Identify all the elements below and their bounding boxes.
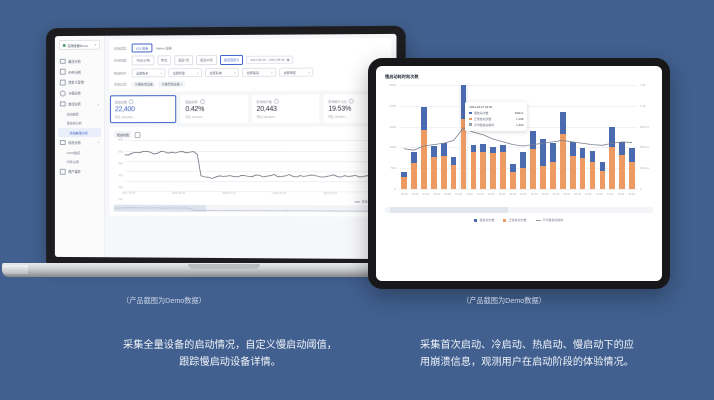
chip-last-30-days[interactable]: 最近30天 (196, 55, 217, 64)
y-tick-label-left: 1500 (389, 125, 396, 129)
laptop-foot (2, 265, 28, 274)
filter-label: 筛选条件： (114, 71, 129, 76)
stacked-bar (580, 85, 586, 189)
line-path (125, 140, 386, 191)
x-tick-label: 02:00 (542, 193, 549, 196)
metric-cards: 慢启动数 22,400 环比 194.83% ↑ 慢启动率 (110, 94, 391, 123)
bar-segment-slow (580, 148, 586, 158)
y-axis-left: 25002000150010005000 (385, 85, 397, 189)
left-description: 采集全量设备的启动情况，自定义慢启动阈值， 跟踪慢启动设备详情。 (95, 338, 365, 372)
sidebar-item-retention[interactable]: 用户留存 (55, 166, 104, 177)
tooltip-value: 1,420 (516, 123, 523, 127)
stacked-bar (540, 85, 546, 189)
y-tick-label-right: 600ms (640, 145, 649, 149)
filter-panel: 应用类型： iOS 应用 Native 应用 时间范围： 今日(小时) 昨日 最… (110, 38, 391, 91)
y-tick-label-left: 2000 (389, 104, 396, 108)
chip-custom-range[interactable]: 最近自定义 (220, 55, 243, 64)
bar-column[interactable] (588, 85, 598, 189)
bar-segment-slow (540, 139, 546, 166)
sidebar-item-label: 用户留存 (68, 169, 81, 174)
bar-segment-normal (471, 152, 477, 189)
laptop-screen: 应用性能Demo ▾ 崩溃分析 ANR分析 (55, 34, 397, 259)
chip-last-7-days[interactable]: 最近7天 (174, 55, 193, 64)
x-tick-label: 2021-06-29 (122, 192, 135, 195)
grid-icon (60, 140, 65, 146)
bar-segment-slow (441, 143, 447, 155)
legend-label: 平均慢启动耗时 (543, 218, 564, 222)
legend-swatch-icon (503, 219, 506, 222)
left-description-line1: 采集全量设备的启动情况，自定义慢启动阈值， (95, 338, 365, 355)
stacked-bar (431, 85, 437, 189)
bar-segment-normal (560, 134, 566, 189)
bar-column[interactable] (429, 85, 439, 189)
status-dot-icon (63, 43, 66, 46)
laptop-caption: （产品截图为Demo数据） (122, 296, 206, 306)
tooltip-value: 640ms (515, 111, 524, 115)
bar-segment-slow (570, 142, 576, 155)
filter-row-app-type: 应用类型： iOS 应用 Native 应用 (114, 42, 387, 53)
legend-item-normal-startup[interactable]: 正常启动次数 (503, 218, 526, 222)
legend-swatch-icon (474, 219, 477, 222)
tablet-bezel: 慢启动耗时和次数 25002000150010005000 1.5k1.2k90… (368, 58, 670, 289)
select-os[interactable]: 全部系统 ▾ (206, 68, 240, 78)
bar-segment-normal (580, 158, 586, 189)
stacked-bar (411, 85, 417, 189)
sidebar-subitem-slow-startup[interactable]: 慢启动分析 (55, 118, 104, 127)
date-range-value: 2021-06-29 ~ 2021-08-06 (250, 58, 284, 62)
project-name: 应用性能Demo (68, 42, 88, 47)
sidebar-subitem-startup-trend[interactable]: 启动趋势 (55, 109, 104, 118)
select-value: 全部版本 (136, 71, 148, 76)
startup-duration-panel: 慢启动耗时和次数 25002000150010005000 1.5k1.2k90… (376, 66, 662, 281)
x-tick-label: 12:00 (466, 193, 473, 196)
bar-series (399, 85, 637, 189)
bar-segment-normal (411, 163, 417, 189)
legend-item-slow-startup[interactable]: 慢启动次数 (474, 218, 494, 222)
x-tick-label: 20:00 (509, 193, 516, 196)
laptop-line-chart: 600500400300200100 2021-06-292021-07-062… (114, 140, 387, 201)
x-tick-label: 2021-07-13 (222, 192, 235, 195)
x-tick-label: 10:00 (585, 193, 592, 196)
y-axis-right: 1.5k1.2k900ms600ms300ms0 (639, 85, 653, 189)
x-tick-label: 22:00 (520, 193, 527, 196)
grid-icon (60, 169, 65, 175)
date-range-picker[interactable]: 2021-06-29 ~ 2021-08-06 ▦ (246, 55, 293, 64)
bar-column[interactable] (607, 85, 617, 189)
scene: 应用性能Demo ▾ 崩溃分析 ANR分析 (0, 0, 714, 400)
filter-label: 应用类型： (114, 45, 129, 50)
metric-value: 22,400 (115, 106, 172, 113)
help-icon[interactable] (129, 99, 134, 104)
chip-yesterday[interactable]: 昨日 (157, 56, 171, 65)
bar-segment-slow (600, 162, 606, 170)
apm-dashboard: 应用性能Demo ▾ 崩溃分析 ANR分析 (55, 34, 397, 259)
y-tick-label-right: 0 (640, 187, 642, 191)
select-device-model[interactable]: 全部机型 ▾ (169, 68, 203, 77)
bar-segment-normal (530, 149, 536, 189)
bar-segment-slow (520, 152, 526, 168)
bar-column[interactable] (617, 85, 627, 189)
legend-swatch-icon (469, 118, 472, 121)
settings-grid-icon[interactable] (135, 132, 141, 138)
x-tick-label: 12:00 (596, 193, 603, 196)
slider-fill (390, 207, 508, 213)
select-version[interactable]: 全部版本 ▾ (132, 68, 166, 77)
help-icon[interactable] (274, 99, 279, 104)
stacked-bar (451, 85, 457, 189)
x-tick-label: 2021-07-06 (172, 192, 185, 195)
sidebar-item-crash[interactable]: 崩溃分析 (55, 56, 104, 67)
x-tick-label: 00:00 (531, 193, 538, 196)
y-tick-label-left: 1000 (389, 145, 396, 149)
stacked-bar (421, 85, 427, 189)
stacked-bar (480, 85, 486, 189)
chart-range-slider[interactable] (385, 207, 653, 213)
bar-segment-normal (421, 130, 427, 189)
tag-abnormal-devices-only[interactable]: 只看异常设备 × (159, 81, 185, 87)
bar-column[interactable] (498, 85, 508, 189)
metric-value: 0.42% (185, 106, 242, 113)
legend-line-marker (355, 202, 360, 203)
legend-label: 正常启动次数 (508, 218, 526, 222)
y-tick-label: 300 (118, 175, 122, 178)
sidebar-item-label: 卡顿分析 (68, 91, 81, 96)
bar-column[interactable] (528, 85, 538, 189)
metric-card-affected-users[interactable]: 影响用户数 20,443 环比 146.84% ↑ (252, 94, 320, 123)
legend-label: 慢启动次数 (479, 218, 494, 222)
gridline (399, 189, 637, 190)
x-tick-label: 14:00 (607, 193, 614, 196)
tooltip-label: 正常启动次数 (474, 117, 491, 121)
clock-icon (60, 90, 65, 96)
x-tick-label: 18:00 (628, 193, 635, 196)
metric-title: 慢启动数 (115, 99, 127, 104)
metric-delta: 环比 194.83% ↑ (115, 115, 172, 119)
stacked-bar (629, 85, 635, 189)
filter-label: 高级过滤： (114, 82, 129, 87)
bar-column[interactable] (578, 85, 588, 189)
chevron-down-icon: ▾ (95, 43, 96, 47)
stacked-bar (471, 85, 477, 189)
metric-title-row: 慢启动数 (115, 99, 172, 104)
bar-column[interactable] (399, 85, 409, 189)
chip-ios-app[interactable]: iOS 应用 (132, 43, 152, 52)
tablet-caption: （产品截图为Demo数据） (462, 296, 546, 306)
stacked-bar (510, 85, 516, 189)
x-tick-label: 2021-07-20 (273, 192, 286, 195)
x-tick-label: 02:00 (412, 193, 419, 196)
grid-icon (60, 58, 65, 64)
chevron-down-icon: ▾ (271, 71, 272, 75)
line-path (114, 207, 387, 213)
calendar-icon: ▦ (287, 58, 290, 62)
sidebar-item-anr[interactable]: ANR分析 (55, 66, 104, 77)
y-tick-label-left: 0 (394, 187, 396, 191)
bar-segment-slow (510, 164, 516, 171)
tooltip-label: 平均慢启动耗时 (474, 123, 494, 127)
bar-segment-slow (451, 157, 457, 165)
tooltip-row: 慢启动次数 640ms (469, 111, 523, 115)
bar-segment-normal (550, 162, 556, 189)
select-region[interactable]: 全部地区 ▾ (280, 68, 314, 78)
tooltip-label: 慢启动次数 (474, 111, 488, 115)
metric-value: 20,443 (257, 106, 315, 113)
stacked-bar (441, 85, 447, 189)
bar-column[interactable] (419, 85, 429, 189)
bar-column[interactable] (597, 85, 607, 189)
metric-title: 慢启动率 (185, 99, 197, 104)
help-icon[interactable] (200, 99, 205, 104)
tooltip-row: 平均慢启动耗时 1,420 (469, 123, 523, 127)
bar-column[interactable] (488, 85, 498, 189)
bar-segment-normal (570, 156, 576, 189)
bar-segment-normal (619, 155, 625, 189)
grid-icon (60, 80, 65, 86)
y-tick-label: 100 (118, 199, 122, 202)
select-value: 全部地区 (284, 70, 296, 75)
chart-range-slider[interactable] (114, 205, 387, 213)
x-tick-label: 08:00 (574, 193, 581, 196)
x-tick-label: 16:00 (488, 193, 495, 196)
sidebar-subitem-startup-crash[interactable]: 启动崩溃分析 (58, 128, 101, 137)
laptop-notch (188, 264, 260, 269)
metric-card-slow-startup-count[interactable]: 慢启动数 22,400 环比 194.83% ↑ (110, 95, 177, 123)
sidebar-item-label: 自定义异常 (68, 80, 84, 85)
sidebar-item-label: 启动分析 (68, 101, 81, 106)
chevron-down-icon: ▾ (160, 71, 161, 75)
stacked-bar (600, 85, 606, 189)
select-value: 全部机型 (173, 70, 185, 75)
bar-column[interactable] (548, 85, 558, 189)
bar-segment-normal (510, 172, 516, 189)
chart-legend: 慢启动次数 正常启动次数 平均慢启动耗时 (385, 218, 653, 222)
bar-column[interactable] (468, 85, 478, 189)
sidebar-item-startup[interactable]: 启动分析 ▴ (55, 98, 104, 109)
right-description: 采集首次启动、冷启动、热启动、慢启动下的应 用崩溃信息，观测用户在启动阶段的体验… (392, 338, 662, 372)
left-description-line2: 跟踪慢启动设备详情。 (95, 355, 365, 372)
bar-segment-slow (471, 145, 477, 152)
sidebar-item-label: ANR分析 (68, 69, 81, 74)
bar-segment-normal (600, 171, 606, 189)
laptop-device: 应用性能Demo ▾ 崩溃分析 ANR分析 (44, 27, 404, 277)
bar-segment-normal (540, 166, 546, 189)
legend-item-avg-duration[interactable]: 平均慢启动耗时 (536, 218, 564, 222)
bar-segment-slow (619, 142, 625, 154)
metric-title-row: 影响用户数 (257, 99, 315, 104)
stacked-bar (490, 85, 496, 189)
x-tick-label: 06:00 (563, 193, 570, 196)
bar-column[interactable] (568, 85, 578, 189)
legend-swatch-icon (469, 112, 472, 115)
slider-preview (114, 207, 387, 213)
bar-column[interactable] (459, 85, 469, 189)
bar-segment-normal (500, 152, 506, 189)
chevron-up-icon: ▴ (98, 102, 99, 106)
bar-segment-slow (590, 151, 596, 163)
y-tick-label: 600 (118, 139, 122, 142)
stacked-bar (550, 85, 556, 189)
stacked-bar (530, 85, 536, 189)
bar-segment-slow (609, 127, 615, 147)
bar-segment-normal (490, 153, 496, 189)
chart-tooltip: 2021-03-07 04:00 慢启动次数 640ms 正常启动次数 1,12… (465, 102, 527, 132)
x-tick-label: 2021-07-27 (323, 193, 336, 196)
filter-row-conditions: 筛选条件： 全部版本 ▾ 全部机型 ▾ 全部系统 (114, 67, 387, 78)
tooltip-value: 1,128 (516, 117, 523, 121)
x-tick-label: 04:00 (552, 193, 559, 196)
sidebar-subitem-oom[interactable]: OOM监控 (55, 148, 104, 157)
metric-delta: 环比 13.01% ↑ (185, 115, 242, 119)
bar-segment-slow (530, 131, 536, 149)
trend-panel: 慢启动数 600500400300200100 2021-06-292021-0… (110, 127, 391, 217)
bar-segment-normal (609, 147, 615, 189)
tooltip-date: 2021-03-07 04:00 (469, 105, 523, 109)
bar-segment-slow (480, 144, 486, 151)
bar-segment-slow (629, 148, 635, 162)
y-tick-label: 400 (118, 163, 122, 166)
grid-icon (60, 69, 65, 75)
x-tick-label: 04:00 (423, 193, 430, 196)
bar-column[interactable] (478, 85, 488, 189)
x-tick-label: 18:00 (498, 193, 505, 196)
stacked-bar (401, 85, 407, 189)
x-axis: 00:0002:0004:0006:0008:0010:0012:0014:00… (399, 191, 637, 203)
stacked-bar (500, 85, 506, 189)
y-tick-label-right: 900ms (640, 125, 649, 129)
sidebar: 应用性能Demo ▾ 崩溃分析 ANR分析 (55, 36, 105, 257)
right-description-line2: 用崩溃信息，观测用户在启动阶段的体验情况。 (392, 355, 662, 372)
main-content: 应用类型： iOS 应用 Native 应用 时间范围： 今日(小时) 昨日 最… (105, 34, 396, 259)
sidebar-item-custom-exception[interactable]: 自定义异常 (55, 77, 104, 88)
chevron-down-icon: ▾ (308, 70, 309, 74)
metric-title: 影响用户占比 (328, 99, 347, 104)
x-axis: 2021-06-292021-07-062021-07-132021-07-20… (125, 192, 386, 201)
metric-title-row: 慢启动率 (185, 99, 242, 104)
tablet-screen: 慢启动耗时和次数 25002000150010005000 1.5k1.2k90… (376, 66, 662, 281)
bar-segment-normal (480, 152, 486, 189)
chip-native-app[interactable]: Native 应用 (155, 44, 175, 51)
legend-line-icon (536, 220, 541, 221)
x-tick-label: 14:00 (477, 193, 484, 196)
metric-delta: 环比 146.84% ↑ (257, 114, 315, 118)
x-tick-label: 00:00 (401, 193, 408, 196)
x-tick-label: 08:00 (444, 193, 451, 196)
tablet-device: 慢启动耗时和次数 25002000150010005000 1.5k1.2k90… (368, 58, 670, 289)
filter-row-advanced: 高级过滤： 只看新增设备 只看异常设备 × (114, 80, 387, 87)
select-value: 全部系统 (210, 70, 222, 75)
legend-line-icon (469, 123, 472, 126)
y-tick-label: 500 (118, 151, 122, 154)
metric-title: 影响用户数 (257, 99, 273, 104)
filter-row-time-range: 时间范围： 今日(小时) 昨日 最近7天 最近30天 最近自定义 2021-06… (114, 54, 387, 65)
trend-panel-header: 慢启动数 (114, 131, 387, 139)
select-value: 全部渠道 (246, 70, 258, 75)
stacked-bar (590, 85, 596, 189)
bar-segment-slow (500, 145, 506, 152)
laptop-lid: 应用性能Demo ▾ 崩溃分析 ANR分析 (46, 26, 406, 267)
plot-area (399, 85, 637, 189)
chevron-down-icon: ▾ (98, 140, 99, 144)
y-tick-label: 200 (118, 187, 122, 190)
select-channel[interactable]: 全部渠道 ▾ (242, 68, 276, 78)
grid-icon (60, 101, 65, 107)
page-title: 慢启动耗时和次数 (385, 74, 653, 80)
bar-column[interactable] (558, 85, 568, 189)
bar-segment-normal (401, 177, 407, 189)
tag-new-devices-only[interactable]: 只看新增设备 (132, 81, 156, 87)
filter-label: 时间范围： (114, 58, 129, 63)
metric-card-slow-startup-rate[interactable]: 慢启动率 0.42% 环比 13.01% ↑ (180, 95, 247, 123)
bar-segment-slow (421, 107, 427, 129)
tab-slow-startup-count[interactable]: 慢启动数 (114, 131, 132, 138)
y-tick-label-left: 500 (391, 166, 396, 170)
stacked-bar (570, 85, 576, 189)
bar-segment-slow (560, 112, 566, 134)
right-description-line1: 采集首次启动、冷启动、热启动、慢启动下的应 (392, 338, 662, 355)
tooltip-row: 正常启动次数 1,128 (469, 117, 523, 121)
stacked-bar (520, 85, 526, 189)
x-tick-label: 06:00 (433, 193, 440, 196)
help-icon[interactable] (349, 99, 354, 104)
bar-segment-normal (520, 168, 526, 189)
x-tick-label: 16:00 (617, 193, 624, 196)
bar-segment-normal (431, 157, 437, 189)
bar-segment-normal (629, 162, 635, 189)
bar-column[interactable] (627, 85, 637, 189)
bar-column[interactable] (409, 85, 419, 189)
bar-column[interactable] (508, 85, 518, 189)
sidebar-nav: 崩溃分析 ANR分析 自定义异常 (55, 56, 104, 177)
y-tick-label-right: 1.5k (640, 83, 646, 87)
chevron-down-icon: ▾ (197, 71, 198, 75)
bar-segment-slow (431, 146, 437, 158)
project-selector[interactable]: 应用性能Demo ▾ (59, 40, 100, 50)
sidebar-item-label: 内存分析 (68, 140, 81, 145)
y-tick-label-left: 2500 (389, 83, 396, 87)
bar-segment-normal (441, 156, 447, 189)
stacked-bar (609, 85, 615, 189)
bar-segment-normal (590, 162, 596, 189)
chevron-down-icon: ▾ (234, 71, 235, 75)
chip-today[interactable]: 今日(小时) (132, 56, 154, 65)
stacked-bar (619, 85, 625, 189)
tablet-bar-chart: 25002000150010005000 1.5k1.2k900ms600ms3… (385, 85, 653, 203)
x-tick-label: 10:00 (455, 193, 462, 196)
stacked-bar (560, 85, 566, 189)
y-tick-label-right: 1.2k (640, 104, 646, 108)
sidebar-item-label: 崩溃分析 (68, 59, 81, 64)
bar-column[interactable] (538, 85, 548, 189)
bar-column[interactable] (449, 85, 459, 189)
sidebar-item-memory[interactable]: 内存分析 ▾ (55, 137, 104, 148)
bar-column[interactable] (439, 85, 449, 189)
sidebar-subitem-memory-usage[interactable]: 内存占用 (55, 157, 104, 166)
y-tick-label-right: 300ms (640, 166, 649, 170)
bar-column[interactable] (518, 85, 528, 189)
bar-segment-normal (451, 165, 457, 189)
plot-area (125, 140, 386, 191)
bar-segment-slow (411, 152, 417, 163)
stacked-bar (461, 85, 467, 189)
sidebar-item-lag[interactable]: 卡顿分析 (55, 88, 104, 99)
bar-segment-slow (550, 143, 556, 162)
